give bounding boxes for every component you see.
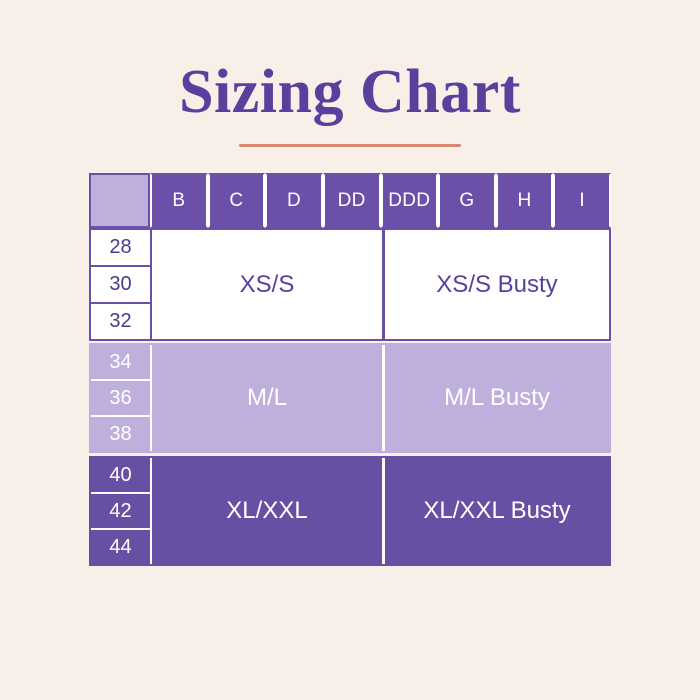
page-title: Sizing Chart [0,58,700,126]
column-header-h: H [496,173,554,228]
column-header-i: I [553,173,611,228]
size-block-xs-s: 28 30 32 XS/S XS/S Busty [89,228,611,341]
column-header-b: B [150,173,208,228]
band-column-m-l: 34 36 38 [91,345,152,451]
column-header-g: G [438,173,496,228]
size-label-m-l-busty: M/L Busty [382,345,609,451]
column-header-c: C [208,173,266,228]
sizing-chart-page: Sizing Chart B C D DD DDD G H I 28 30 [0,0,700,700]
band-column-xl-xxl: 40 42 44 [91,458,152,564]
title-block: Sizing Chart [0,58,700,147]
chart-grid: B C D DD DDD G H I 28 30 32 XS/S XS/S Bu… [89,173,611,566]
band-size-40: 40 [91,458,152,494]
band-size-30: 30 [91,267,152,304]
band-size-36: 36 [91,381,152,417]
size-label-xs-s: XS/S [152,230,382,339]
value-area-xs-s: XS/S XS/S Busty [152,230,609,339]
size-label-xs-s-busty: XS/S Busty [382,230,609,339]
column-header-d: D [265,173,323,228]
band-size-28: 28 [91,230,152,267]
column-header-ddd: DDD [381,173,439,228]
band-size-44: 44 [91,530,152,564]
header-corner-cell [89,173,150,228]
band-column-xs-s: 28 30 32 [91,230,152,339]
title-underline-rule [239,144,461,147]
size-block-xl-xxl: 40 42 44 XL/XXL XL/XXL Busty [89,456,611,566]
band-size-38: 38 [91,417,152,451]
band-size-42: 42 [91,494,152,530]
size-label-m-l: M/L [152,345,382,451]
size-label-xl-xxl: XL/XXL [152,458,382,564]
column-header-dd: DD [323,173,381,228]
value-area-m-l: M/L M/L Busty [152,345,609,451]
size-block-m-l: 34 36 38 M/L M/L Busty [89,343,611,453]
table-header-row: B C D DD DDD G H I [89,173,611,228]
band-size-32: 32 [91,304,152,339]
band-size-34: 34 [91,345,152,381]
sizing-chart-table: B C D DD DDD G H I 28 30 32 XS/S XS/S Bu… [89,173,611,566]
size-label-xl-xxl-busty: XL/XXL Busty [382,458,609,564]
value-area-xl-xxl: XL/XXL XL/XXL Busty [152,458,609,564]
